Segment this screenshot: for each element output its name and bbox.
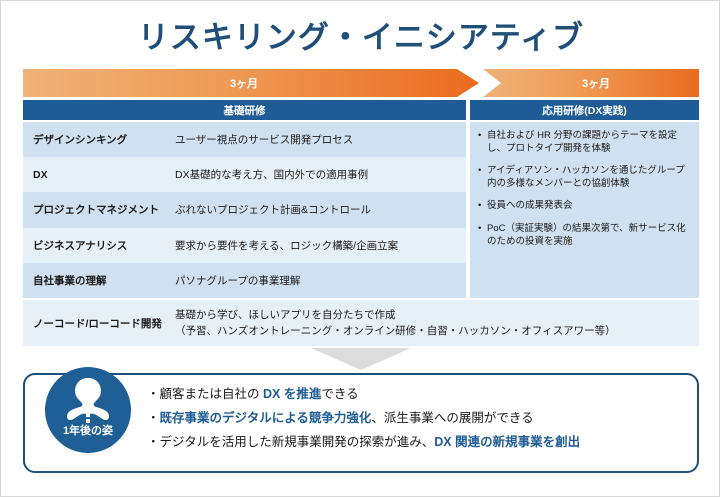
outcome-pre: 顧客または自社の (160, 387, 263, 401)
row-label: ビジネスアナリシス (23, 238, 175, 253)
table-row: デザインシンキング ユーザー視点のサービス開発プロセス (23, 122, 466, 157)
bullet-dot-icon: • (478, 199, 487, 212)
list-item: • アイディアソン・ハッカソンを通じたグループ内の多様なメンバーとの協創体験 (478, 164, 693, 190)
table-header: 基礎研修 応用研修(DX実践) (23, 100, 699, 120)
nocode-row: ノーコード/ローコード開発 基礎から学び、ほしいアプリを自分たちで作成 （予習、… (23, 300, 699, 346)
list-item-text: アイディアソン・ハッカソンを通じたグループ内の多様なメンバーとの協創体験 (487, 164, 693, 190)
row-label: DX (23, 169, 175, 181)
outcome-marker: ・ (147, 411, 160, 425)
outcome-highlight: DX を推進 (263, 387, 321, 401)
nocode-row-line1: 基礎から学び、ほしいアプリを自分たちで作成 (175, 307, 699, 323)
phase-banner: 3ヶ月 3ヶ月 (23, 69, 699, 97)
bullet-dot-icon: • (478, 129, 487, 155)
outcome-box: 1年後の姿 ・顧客または自社の DX を推進できる ・既存事業のデジタルによる競… (23, 373, 699, 473)
outcome-post: できる (321, 387, 358, 401)
table-row: ビジネスアナリシス 要求から要件を考える、ロジック構築/企画立案 (23, 228, 466, 263)
outcome-bullet: ・顧客または自社の DX を推進できる (147, 388, 689, 402)
row-description: ぶれないプロジェクト計画&コントロール (175, 202, 466, 217)
list-item: • PoC（実証実験）の結果次第で、新サービス化のための投資を実施 (478, 222, 693, 248)
outcome-marker: ・ (147, 435, 160, 449)
list-item: • 自社および HR 分野の課題からテーマを設定し、プロトタイプ開発を体験 (478, 129, 693, 155)
outcome-bullet: ・デジタルを活用した新規事業開発の探索が進み、DX 関連の新規事業を創出 (147, 436, 689, 450)
list-item-text: 自社および HR 分野の課題からテーマを設定し、プロトタイプ開発を体験 (487, 129, 693, 155)
outcome-highlight: DX 関連の新規事業を創出 (434, 435, 580, 449)
applied-training-column: • 自社および HR 分野の課題からテーマを設定し、プロトタイプ開発を体験 • … (470, 122, 699, 298)
table-body: デザインシンキング ユーザー視点のサービス開発プロセス DX DX基礎的な考え方… (23, 122, 699, 298)
phase-applied-duration: 3ヶ月 (582, 75, 610, 91)
person-icon (66, 377, 110, 427)
table-header-basic: 基礎研修 (23, 100, 466, 120)
outcome-post: 、派生事業への展開ができる (371, 411, 533, 425)
basic-training-column: デザインシンキング ユーザー視点のサービス開発プロセス DX DX基礎的な考え方… (23, 122, 466, 298)
nocode-row-body: 基礎から学び、ほしいアプリを自分たちで作成 （予習、ハンズオントレーニング・オン… (175, 307, 699, 340)
row-description: 要求から要件を考える、ロジック構築/企画立案 (175, 238, 466, 253)
badge-label: 1年後の姿 (45, 422, 131, 438)
phase-basic-duration: 3ヶ月 (230, 75, 258, 91)
phase-basic-chevron: 3ヶ月 (23, 69, 479, 97)
table-header-applied: 応用研修(DX実践) (470, 100, 699, 120)
list-item-text: 役員への成果発表会 (487, 199, 693, 212)
row-label: プロジェクトマネジメント (23, 202, 175, 217)
one-year-badge: 1年後の姿 (45, 367, 131, 453)
outcome-marker: ・ (147, 387, 160, 401)
down-arrow-icon (311, 348, 411, 370)
outcome-bullet: ・既存事業のデジタルによる競争力強化、派生事業への展開ができる (147, 412, 689, 426)
nocode-row-label: ノーコード/ローコード開発 (23, 316, 175, 331)
row-label: デザインシンキング (23, 132, 175, 147)
list-item-text: PoC（実証実験）の結果次第で、新サービス化のための投資を実施 (487, 222, 693, 248)
row-label: 自社事業の理解 (23, 273, 175, 288)
table-row: プロジェクトマネジメント ぶれないプロジェクト計画&コントロール (23, 192, 466, 227)
table-row: 自社事業の理解 パソナグループの事業理解 (23, 263, 466, 298)
outcome-list: ・顧客または自社の DX を推進できる ・既存事業のデジタルによる競争力強化、派… (147, 388, 689, 459)
bullet-dot-icon: • (478, 222, 487, 248)
row-description: パソナグループの事業理解 (175, 273, 466, 288)
row-description: DX基礎的な考え方、国内外での適用事例 (175, 167, 466, 182)
nocode-row-line2: （予習、ハンズオントレーニング・オンライン研修・自習・ハッカソン・オフィスアワー… (175, 323, 699, 339)
outcome-pre: デジタルを活用した新規事業開発の探索が進み、 (160, 435, 435, 449)
row-description: ユーザー視点のサービス開発プロセス (175, 132, 466, 147)
outcome-highlight: 既存事業のデジタルによる競争力強化 (160, 411, 372, 425)
bullet-dot-icon: • (478, 164, 487, 190)
table-row: DX DX基礎的な考え方、国内外での適用事例 (23, 157, 466, 192)
page-title: リスキリング・イニシアティブ (1, 12, 720, 57)
slide-canvas: リスキリング・イニシアティブ 3ヶ月 3ヶ月 基礎研修 応用研修(DX実践) デ… (0, 0, 720, 497)
phase-applied-chevron: 3ヶ月 (483, 69, 699, 97)
list-item: • 役員への成果発表会 (478, 199, 693, 212)
